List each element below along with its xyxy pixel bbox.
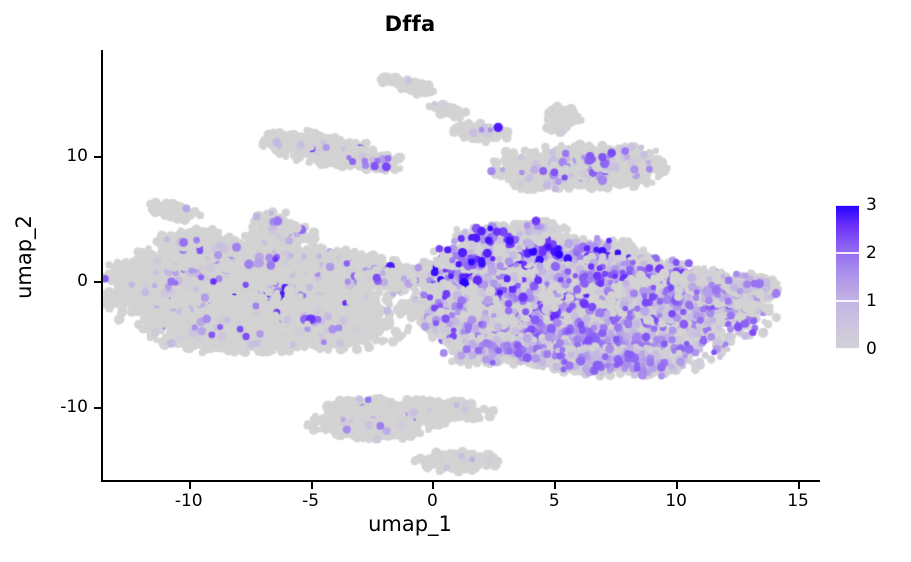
umap-feature-plot: Dffa -10-5051015 -10010 umap_1 umap_2 32… [0, 0, 911, 562]
colorbar-tick-label: 1 [866, 291, 877, 311]
x-tick-mark [189, 482, 191, 489]
y-axis-label: umap_2 [12, 157, 36, 357]
y-tick-label: 10 [66, 146, 88, 166]
y-tick-mark [94, 407, 101, 409]
colorbar-tick-label: 2 [866, 243, 877, 263]
y-axis-spine [101, 50, 103, 482]
x-tick-label: -10 [175, 491, 203, 511]
y-tick-mark [94, 156, 101, 158]
x-tick-mark [676, 482, 678, 489]
x-tick-mark [311, 482, 313, 489]
colorbar-tick-mark [836, 204, 859, 206]
colorbar-tick-mark [836, 300, 859, 302]
colorbar-tick-label: 0 [866, 339, 877, 359]
colorbar-tick-label: 3 [866, 195, 877, 215]
x-tick-label: 0 [427, 491, 438, 511]
x-tick-label: 15 [787, 491, 809, 511]
x-axis-label: umap_1 [0, 512, 820, 536]
colorbar-gradient [836, 205, 859, 349]
x-tick-mark [432, 482, 434, 489]
x-tick-label: 5 [549, 491, 560, 511]
x-tick-label: -5 [302, 491, 319, 511]
y-tick-label: 0 [77, 271, 88, 291]
x-tick-mark [554, 482, 556, 489]
colorbar-tick-mark [836, 348, 859, 350]
colorbar-tick-mark [836, 252, 859, 254]
x-tick-label: 10 [665, 491, 687, 511]
x-axis-spine [101, 480, 820, 482]
scatter-canvas [101, 50, 820, 480]
scatter-plot-area [101, 50, 820, 480]
y-tick-label: -10 [60, 397, 88, 417]
x-tick-mark [798, 482, 800, 489]
y-tick-mark [94, 281, 101, 283]
chart-title: Dffa [0, 12, 820, 36]
